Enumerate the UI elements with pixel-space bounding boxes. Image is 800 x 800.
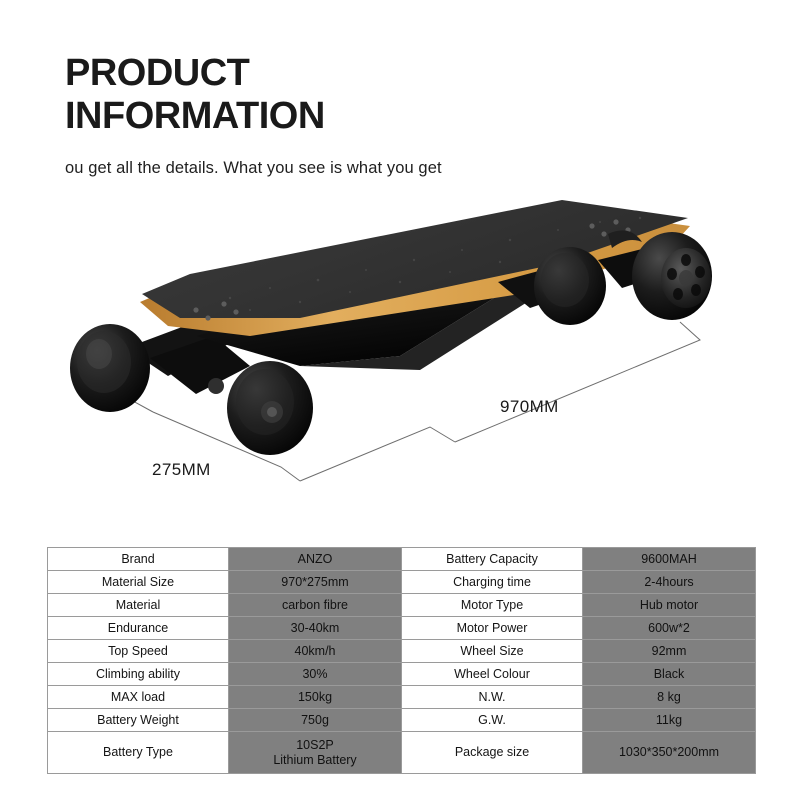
skateboard-illustration: 970MM 275MM: [0, 190, 800, 530]
spec-label: Material: [48, 594, 229, 617]
table-row: Endurance 30-40km Motor Power 600w*2: [48, 617, 756, 640]
spec-value: 150kg: [229, 686, 402, 709]
spec-label: Top Speed: [48, 640, 229, 663]
spec-value: 9600MAH: [583, 548, 756, 571]
spec-value-multiline: 10S2P Lithium Battery: [231, 738, 399, 767]
spec-value: 750g: [229, 709, 402, 732]
product-image: 970MM 275MM: [0, 190, 800, 530]
spec-value: Hub motor: [583, 594, 756, 617]
page-header: PRODUCT INFORMATION ou get all the detai…: [65, 52, 755, 178]
spec-label: G.W.: [402, 709, 583, 732]
spec-label: Battery Capacity: [402, 548, 583, 571]
spec-label: Package size: [402, 732, 583, 774]
spec-value: 8 kg: [583, 686, 756, 709]
spec-label: Brand: [48, 548, 229, 571]
spec-label: Motor Power: [402, 617, 583, 640]
spec-value: 2-4hours: [583, 571, 756, 594]
spec-label: Material Size: [48, 571, 229, 594]
spec-label: Battery Weight: [48, 709, 229, 732]
spec-value: 1030*350*200mm: [583, 732, 756, 774]
table-row: Battery Weight 750g G.W. 11kg: [48, 709, 756, 732]
spec-value: 30%: [229, 663, 402, 686]
table-row: Climbing ability 30% Wheel Colour Black: [48, 663, 756, 686]
spec-label: Battery Type: [48, 732, 229, 774]
spec-value: 10S2P Lithium Battery: [229, 732, 402, 774]
table-row: MAX load 150kg N.W. 8 kg: [48, 686, 756, 709]
spec-label: Motor Type: [402, 594, 583, 617]
table-row: Material Size 970*275mm Charging time 2-…: [48, 571, 756, 594]
spec-table-body: Brand ANZO Battery Capacity 9600MAH Mate…: [48, 548, 756, 774]
spec-label: Climbing ability: [48, 663, 229, 686]
specification-table: Brand ANZO Battery Capacity 9600MAH Mate…: [47, 547, 756, 774]
table-row: Material carbon fibre Motor Type Hub mot…: [48, 594, 756, 617]
spec-value-line-1: 10S2P: [231, 738, 399, 752]
page-title: PRODUCT INFORMATION: [65, 52, 755, 137]
spec-value: 600w*2: [583, 617, 756, 640]
page-subtitle: ou get all the details. What you see is …: [65, 159, 755, 178]
spec-value: Black: [583, 663, 756, 686]
spec-value: 970*275mm: [229, 571, 402, 594]
spec-label: N.W.: [402, 686, 583, 709]
spec-label: Charging time: [402, 571, 583, 594]
spec-label: Wheel Colour: [402, 663, 583, 686]
table-row: Top Speed 40km/h Wheel Size 92mm: [48, 640, 756, 663]
spec-value-line-2: Lithium Battery: [231, 753, 399, 767]
width-dimension-label: 275MM: [152, 460, 211, 479]
table-row: Brand ANZO Battery Capacity 9600MAH: [48, 548, 756, 571]
spec-value: 11kg: [583, 709, 756, 732]
spec-value: carbon fibre: [229, 594, 402, 617]
table-row: Battery Type 10S2P Lithium Battery Packa…: [48, 732, 756, 774]
spec-label: Wheel Size: [402, 640, 583, 663]
spec-label: Endurance: [48, 617, 229, 640]
spec-value: 30-40km: [229, 617, 402, 640]
spec-value: 92mm: [583, 640, 756, 663]
spec-value: 40km/h: [229, 640, 402, 663]
length-dimension-label: 970MM: [500, 397, 559, 416]
spec-value: ANZO: [229, 548, 402, 571]
spec-label: MAX load: [48, 686, 229, 709]
